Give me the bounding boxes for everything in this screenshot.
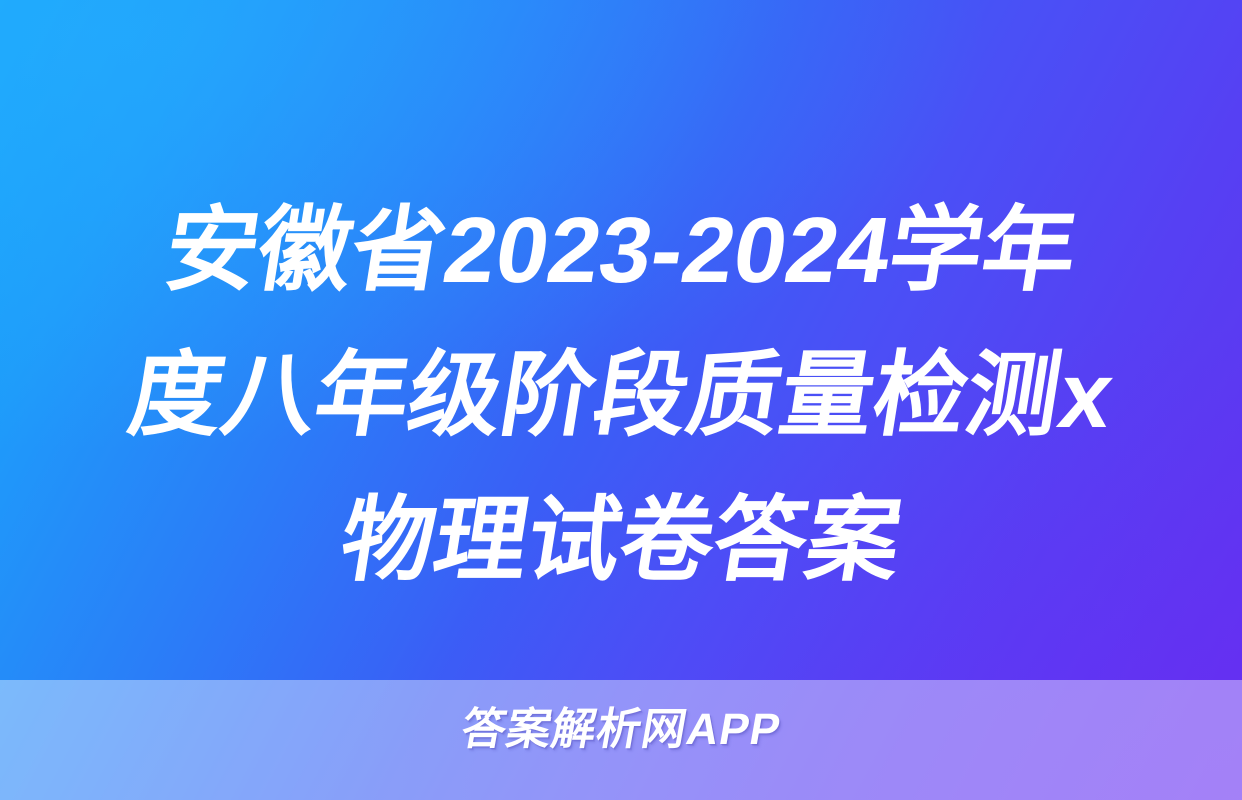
title-line-1: 安徽省2023-2024学年: [7, 178, 1236, 323]
watermark: 答案解析网APP: [0, 702, 1242, 758]
watermark-app-name: 答案解析网APP: [457, 702, 785, 758]
promo-poster: 安徽省2023-2024学年 度八年级阶段质量检测x 物理试卷答案 答案解析网A…: [0, 0, 1242, 800]
poster-title: 安徽省2023-2024学年 度八年级阶段质量检测x 物理试卷答案: [0, 178, 1242, 613]
title-line-2: 度八年级阶段质量检测x: [7, 323, 1236, 468]
title-line-3: 物理试卷答案: [7, 468, 1236, 613]
